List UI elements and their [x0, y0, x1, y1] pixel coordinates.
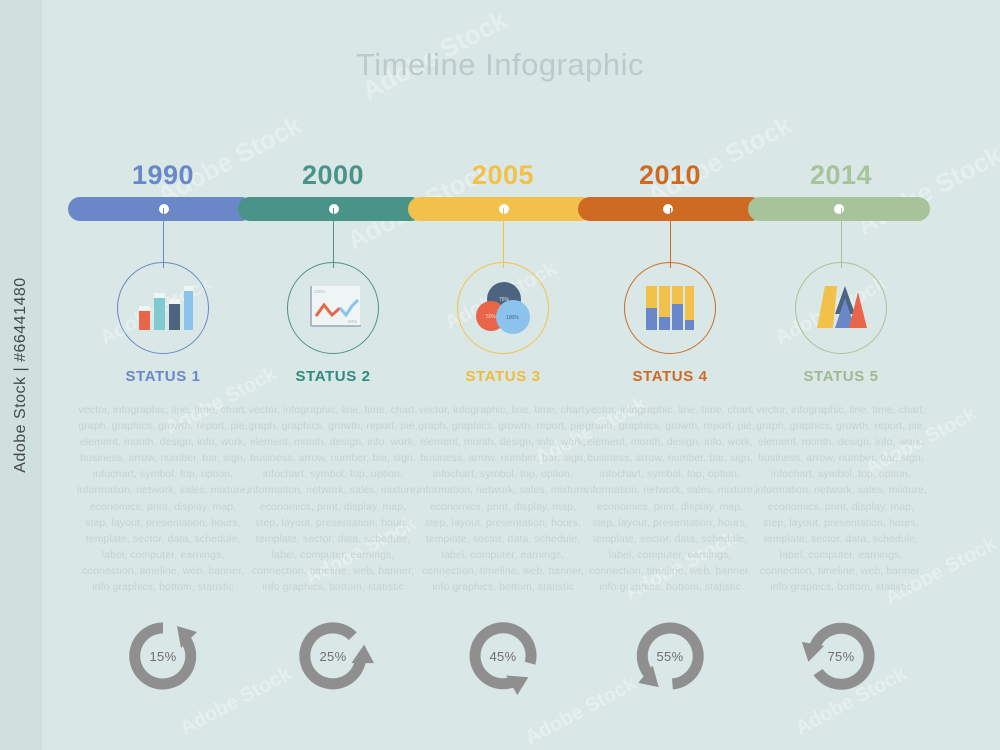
svg-text:100%: 100% [506, 315, 519, 321]
icon-circle-1990[interactable] [117, 262, 209, 354]
year-label-1990: 1990 [71, 160, 255, 191]
body-text-2010: vector, infographic, line, time, chart, … [584, 402, 756, 595]
icon-circle-2014[interactable] [795, 262, 887, 354]
year-label-2000: 2000 [241, 160, 425, 191]
percent-indicator-2000: 25% [289, 617, 377, 695]
stacked-bar-chart-icon [644, 282, 696, 334]
percent-indicator-1990: 15% [119, 617, 207, 695]
icon-circle-2000[interactable]: 100% 50% [287, 262, 379, 354]
connector-line-2014 [841, 208, 842, 268]
svg-text:50%: 50% [348, 319, 357, 324]
svg-text:50%: 50% [486, 314, 497, 320]
triangles-icon [813, 284, 869, 332]
body-text-2005: vector, infographic, line, time, chart, … [417, 402, 589, 595]
percent-indicator-2014: 75% [797, 617, 885, 695]
svg-text:75%: 75% [499, 297, 510, 303]
svg-text:100%: 100% [314, 289, 326, 294]
percent-indicator-2005: 45% [459, 617, 547, 695]
body-text-2000: vector, infographic, line, time, chart, … [247, 402, 419, 595]
timeline-column-2005: 2005 75% 50% 100% STATUS 3 vector, infog… [411, 0, 595, 750]
percent-value-2010: 55% [626, 617, 714, 695]
status-label-2005: STATUS 3 [411, 368, 595, 385]
timeline-column-2010: 2010 STATUS 4 vector, infographic, line,… [578, 0, 762, 750]
status-label-2000: STATUS 2 [241, 368, 425, 385]
icon-circle-2010[interactable] [624, 262, 716, 354]
connector-line-2000 [333, 208, 334, 268]
percent-value-2014: 75% [797, 617, 885, 695]
body-text-2014: vector, infographic, line, time, chart, … [755, 402, 927, 595]
status-label-2010: STATUS 4 [578, 368, 762, 385]
infographic-canvas: Adobe Stock Adobe Stock Adobe Stock Adob… [0, 0, 1000, 750]
bar-chart-icon [133, 282, 193, 334]
percent-value-1990: 15% [119, 617, 207, 695]
body-text-1990: vector, infographic, line, time, chart, … [77, 402, 249, 595]
adobe-stock-watermark-strip: Adobe Stock | #66441480 [0, 0, 42, 750]
connector-line-1990 [163, 208, 164, 268]
connector-line-2005 [503, 208, 504, 268]
status-label-2014: STATUS 5 [749, 368, 933, 385]
percent-value-2000: 25% [289, 617, 377, 695]
icon-circle-2005[interactable]: 75% 50% 100% [457, 262, 549, 354]
timeline-column-2014: 2014 STATUS 5 vector, infographic, line,… [749, 0, 933, 750]
adobe-stock-watermark-label: Adobe Stock | #66441480 [0, 0, 42, 750]
percent-value-2005: 45% [459, 617, 547, 695]
timeline-column-2000: 2000 100% 50% STATUS 2 vector, infograph… [241, 0, 425, 750]
connector-line-2010 [670, 208, 671, 268]
timeline-column-1990: 1990 STATUS 1 vector, infographic, line,… [71, 0, 255, 750]
year-label-2005: 2005 [411, 160, 595, 191]
venn-circles-icon: 75% 50% 100% [471, 279, 535, 337]
percent-indicator-2010: 55% [626, 617, 714, 695]
line-chart-icon: 100% 50% [302, 282, 364, 334]
year-label-2014: 2014 [749, 160, 933, 191]
year-label-2010: 2010 [578, 160, 762, 191]
status-label-1990: STATUS 1 [71, 368, 255, 385]
